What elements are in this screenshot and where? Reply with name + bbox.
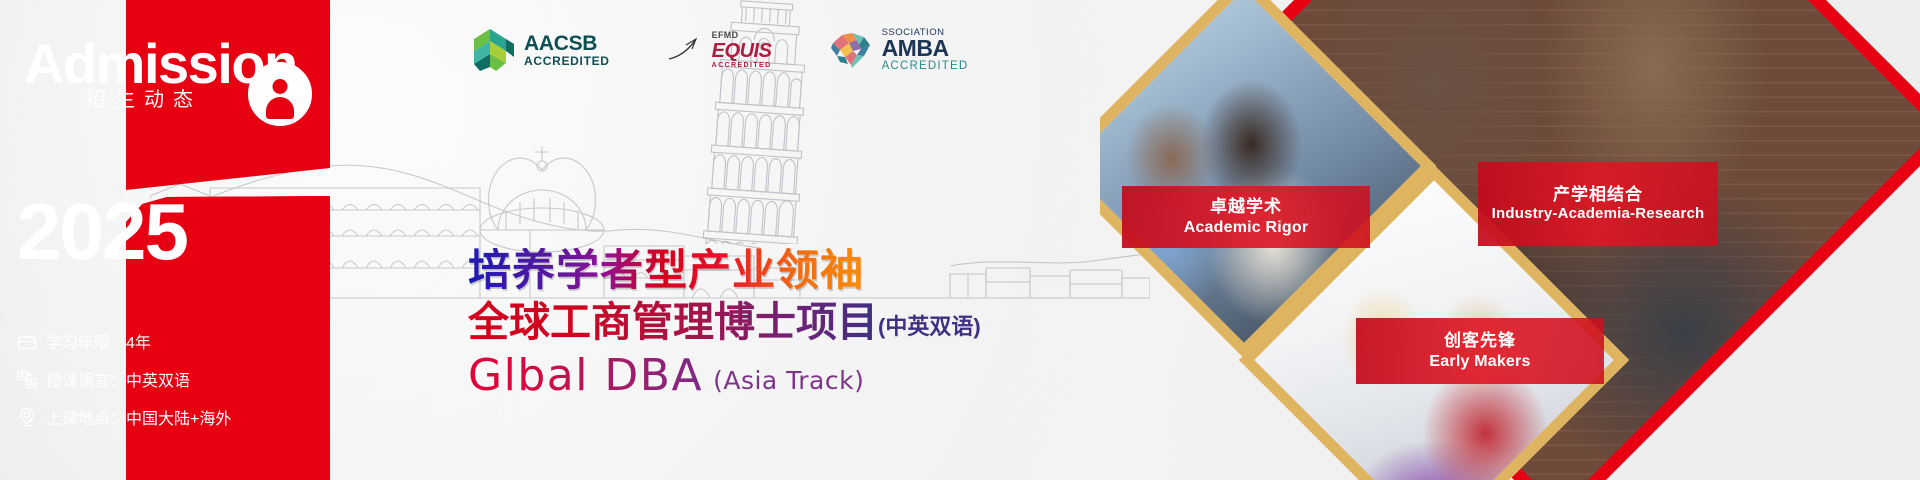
aacsb-name: AACSB	[524, 33, 610, 55]
label-industry-academia-research-en: Industry-Academia-Research	[1492, 205, 1705, 223]
headline-program-suffix: (中英双语)	[878, 309, 981, 346]
headline-program-en: Glbal DBA	[468, 354, 703, 398]
info-text-language: 授课语言：中英双语	[46, 367, 190, 391]
aacsb-status: ACCREDITED	[524, 55, 610, 68]
year-label: 2025	[0, 192, 204, 272]
admission-logo: Admission 招生动态	[0, 32, 300, 120]
label-industry-academia-research: 产学相结合 Industry-Academia-Research	[1478, 162, 1718, 246]
headline-program-en-suffix: (Asia Track)	[713, 366, 864, 398]
label-industry-academia-research-cn: 产学相结合	[1553, 185, 1643, 206]
info-row-language: 授课语言：中英双语	[14, 360, 344, 398]
amba-name: AMBA	[882, 38, 969, 59]
location-pin-icon	[14, 407, 40, 427]
label-early-makers-en: Early Makers	[1429, 352, 1530, 372]
label-early-makers: 创客先锋 Early Makers	[1356, 318, 1604, 384]
info-row-duration: 学习年限：4年	[14, 322, 344, 360]
accreditation-equis: EFMD EQUIS ACCREDITED	[666, 31, 772, 69]
amba-status: ACCREDITED	[882, 60, 969, 72]
language-icon	[14, 369, 40, 389]
info-row-location: 上课地点：中国大陆+海外	[14, 398, 344, 436]
accreditation-aacsb: AACSB ACCREDITED	[470, 27, 610, 73]
label-academic-rigor-en: Academic Rigor	[1184, 218, 1309, 238]
equis-status: ACCREDITED	[712, 62, 772, 69]
label-academic-rigor: 卓越学术 Academic Rigor	[1122, 186, 1370, 248]
program-info-list: 学习年限：4年 授课语言：中英双语	[14, 322, 344, 436]
headline-tagline: 培养学者型产业领袖	[468, 248, 981, 294]
user-avatar-icon	[252, 66, 308, 122]
headline-block: 培养学者型产业领袖 全球工商管理博士项目 (中英双语) Glbal DBA (A…	[468, 248, 981, 398]
info-text-location: 上课地点：中国大陆+海外	[46, 405, 231, 429]
photo-collage: 卓越学术 Academic Rigor 产学相结合 Industry-Acade…	[1100, 0, 1920, 480]
accreditation-amba: SSOCIATION AMBA ACCREDITED	[828, 28, 969, 71]
label-early-makers-cn: 创客先锋	[1444, 331, 1516, 352]
label-academic-rigor-cn: 卓越学术	[1210, 197, 1282, 218]
amba-diamond-icon	[828, 29, 874, 71]
efmd-swoosh-icon	[666, 35, 710, 65]
aacsb-logo-icon	[470, 27, 516, 73]
admission-logo-cn: 招生动态	[86, 90, 202, 110]
calendar-icon	[14, 331, 40, 351]
equis-name: EQUIS	[712, 41, 772, 62]
admission-banner: AACSB ACCREDITED EFMD EQUIS ACCREDITED	[0, 0, 1920, 480]
info-text-duration: 学习年限：4年	[46, 329, 151, 353]
headline-program-title: 全球工商管理博士项目	[468, 300, 878, 345]
accreditation-logos: AACSB ACCREDITED EFMD EQUIS ACCREDITED	[470, 22, 968, 78]
